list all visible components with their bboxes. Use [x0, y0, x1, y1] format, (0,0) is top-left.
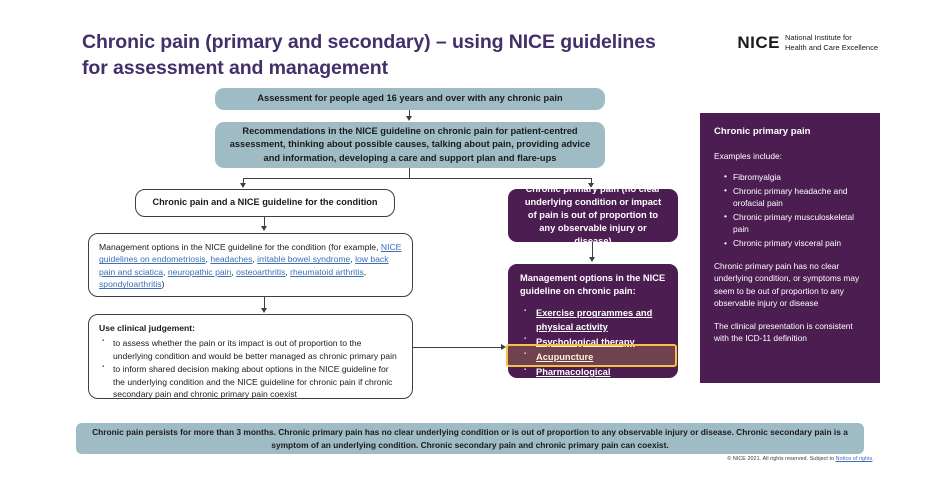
link-neuropathic-pain[interactable]: neuropathic pain: [168, 267, 232, 277]
assessment-box: Assessment for people aged 16 years and …: [215, 88, 605, 110]
link-osteoarthritis[interactable]: osteoarthritis: [236, 267, 285, 277]
side-panel-example-visceral: Chronic primary visceral pain: [725, 237, 866, 249]
arrow-to-condition-box: [240, 183, 246, 188]
nice-logo-tagline: National Institute for Health and Care E…: [785, 33, 878, 53]
link-spondyloarthritis[interactable]: spondyloarthritis: [99, 279, 162, 289]
link-headaches[interactable]: headaches: [210, 254, 252, 264]
notice-of-rights-link[interactable]: Notice of rights: [836, 456, 873, 462]
management-chronic-heading: Management options in the NICE guideline…: [520, 272, 666, 298]
connector-judgement-to-management-chronic: [413, 347, 503, 348]
connector-primary-pain-to-management: [592, 242, 593, 258]
management-chronic-box: Management options in the NICE guideline…: [508, 264, 678, 378]
copyright-text: © NICE 2021. All rights reserved. Subjec…: [727, 456, 835, 462]
clinical-judgement-list: to assess whether the pain or its impact…: [99, 337, 402, 400]
recommendations-box: Recommendations in the NICE guideline on…: [215, 122, 605, 168]
management-option-exercise[interactable]: Exercise programmes and physical activit…: [523, 307, 666, 333]
side-panel-paragraph-1: Chronic primary pain has no clear underl…: [714, 260, 866, 310]
clinical-judgement-heading: Use clinical judgement:: [99, 323, 195, 333]
side-panel-lead: Examples include:: [714, 150, 866, 162]
management-condition-lead: Management options in the NICE guideline…: [99, 242, 381, 252]
clinical-judgement-bullet-2: to inform shared decision making about o…: [102, 363, 402, 400]
arrow-judgement-to-management-chronic: [501, 344, 506, 350]
copyright-period: .: [872, 456, 874, 462]
management-option-pharmacological[interactable]: Pharmacological management: [523, 366, 666, 392]
arrow-management-to-judgement: [261, 308, 267, 313]
side-panel-example-fibromyalgia: Fibromyalgia: [725, 171, 866, 183]
nice-logo-wordmark: NICE: [737, 34, 780, 51]
management-condition-tail: ): [162, 279, 165, 289]
side-panel-heading: Chronic primary pain: [714, 125, 866, 139]
page-title: Chronic pain (primary and secondary) – u…: [82, 30, 662, 81]
management-condition-box: Management options in the NICE guideline…: [88, 233, 413, 297]
management-option-acupuncture[interactable]: Acupuncture: [523, 351, 666, 364]
condition-box: Chronic pain and a NICE guideline for th…: [135, 189, 395, 217]
connector-split-horizontal: [243, 178, 592, 179]
chronic-primary-pain-panel: Chronic primary pain Examples include: F…: [700, 113, 880, 383]
clinical-judgement-bullet-1: to assess whether the pain or its impact…: [102, 337, 402, 362]
side-panel-example-headache: Chronic primary headache and orofacial p…: [725, 185, 866, 210]
copyright-notice: © NICE 2021. All rights reserved. Subjec…: [727, 456, 874, 462]
side-panel-example-musculoskeletal: Chronic primary musculoskeletal pain: [725, 211, 866, 236]
link-rheumatoid-arthritis[interactable]: rheumatoid arthritis: [290, 267, 364, 277]
footer-banner: Chronic pain persists for more than 3 mo…: [76, 423, 864, 454]
arrow-primary-pain-to-management: [589, 257, 595, 262]
management-chronic-list: Exercise programmes and physical activit…: [520, 307, 666, 392]
arrow-condition-to-management: [261, 226, 267, 231]
arrow-assessment-to-recommendations: [406, 116, 412, 121]
side-panel-paragraph-2: The clinical presentation is consistent …: [714, 320, 866, 345]
clinical-judgement-box: Use clinical judgement: to assess whethe…: [88, 314, 413, 399]
side-panel-examples-list: Fibromyalgia Chronic primary headache an…: [714, 171, 866, 250]
slide-canvas: Chronic pain (primary and secondary) – u…: [0, 0, 936, 490]
nice-logo: NICE National Institute for Health and C…: [737, 33, 878, 53]
link-ibs[interactable]: irritable bowel syndrome: [257, 254, 350, 264]
management-option-psychological-therapy[interactable]: Psychological therapy: [523, 336, 666, 349]
primary-pain-box: Chronic primary pain (no clear underlyin…: [508, 189, 678, 242]
